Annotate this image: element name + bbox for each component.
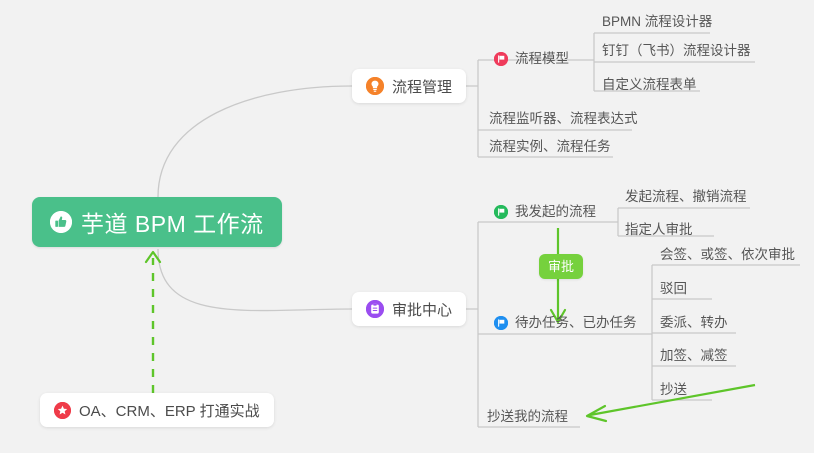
callout-tag-approval: 审批 <box>539 254 583 279</box>
node-todo-done-tasks[interactable]: 待办任务、已办任务 <box>494 316 637 330</box>
mindmap-canvas: 芋道 BPM 工作流 OA、CRM、ERP 打通实战 流程管理 <box>0 0 814 453</box>
node-label-dingtalk-feishu-designer: 钉钉（飞书）流程设计器 <box>602 44 751 58</box>
node-start-cancel-process[interactable]: 发起流程、撤销流程 <box>625 190 747 204</box>
note-node[interactable]: OA、CRM、ERP 打通实战 <box>40 393 274 427</box>
root-node[interactable]: 芋道 BPM 工作流 <box>32 197 282 247</box>
node-label-start-cancel-process: 发起流程、撤销流程 <box>625 190 747 204</box>
node-process-listener-expression[interactable]: 流程监听器、流程表达式 <box>489 112 638 126</box>
node-process-model[interactable]: 流程模型 <box>494 52 569 66</box>
node-cc-to-me-processes[interactable]: 抄送我的流程 <box>487 410 568 424</box>
node-label-cc-to-me-processes: 抄送我的流程 <box>487 410 568 424</box>
node-label-add-remove-sign: 加签、减签 <box>660 349 728 363</box>
node-add-remove-sign[interactable]: 加签、减签 <box>660 349 728 363</box>
node-bpmn-designer[interactable]: BPMN 流程设计器 <box>602 15 712 29</box>
node-label-process-model: 流程模型 <box>515 52 569 66</box>
branch-label-process-management: 流程管理 <box>392 76 452 97</box>
node-reject[interactable]: 驳回 <box>660 282 687 296</box>
node-dingtalk-feishu-designer[interactable]: 钉钉（飞书）流程设计器 <box>602 44 751 58</box>
flag-red-icon <box>494 52 508 66</box>
thumbs-up-icon <box>50 211 72 233</box>
node-carbon-copy[interactable]: 抄送 <box>660 383 687 397</box>
node-label-process-listener-expression: 流程监听器、流程表达式 <box>489 112 638 126</box>
node-label-todo-done-tasks: 待办任务、已办任务 <box>515 316 637 330</box>
node-countersign-orsign-sequential[interactable]: 会签、或签、依次审批 <box>660 248 795 262</box>
flag-green-icon <box>494 205 508 219</box>
callout-tag-label: 审批 <box>548 259 574 274</box>
node-label-delegate-transfer: 委派、转办 <box>660 316 728 330</box>
edge-root-to-approval-center <box>158 249 352 311</box>
node-my-initiated-processes[interactable]: 我发起的流程 <box>494 205 596 219</box>
node-custom-process-form[interactable]: 自定义流程表单 <box>602 78 697 92</box>
node-label-custom-process-form: 自定义流程表单 <box>602 78 697 92</box>
branch-node-approval-center[interactable]: 审批中心 <box>352 292 466 326</box>
branch-node-process-management[interactable]: 流程管理 <box>352 69 466 103</box>
node-label-bpmn-designer: BPMN 流程设计器 <box>602 15 712 29</box>
node-label-carbon-copy: 抄送 <box>660 383 687 397</box>
node-label-process-instance-task: 流程实例、流程任务 <box>489 140 611 154</box>
note-label: OA、CRM、ERP 打通实战 <box>79 400 260 421</box>
node-label-countersign-orsign-sequential: 会签、或签、依次审批 <box>660 248 795 262</box>
node-label-designated-approver: 指定人审批 <box>625 223 693 237</box>
node-delegate-transfer[interactable]: 委派、转办 <box>660 316 728 330</box>
node-label-my-initiated-processes: 我发起的流程 <box>515 205 596 219</box>
clipboard-icon <box>366 300 384 318</box>
edge-root-to-process-management <box>158 86 352 197</box>
star-icon <box>54 402 71 419</box>
flag-blue-icon <box>494 316 508 330</box>
node-label-reject: 驳回 <box>660 282 687 296</box>
branch-label-approval-center: 审批中心 <box>392 299 452 320</box>
arrow-note-to-root <box>146 252 160 393</box>
node-designated-approver[interactable]: 指定人审批 <box>625 223 693 237</box>
root-label: 芋道 BPM 工作流 <box>81 205 264 239</box>
lightbulb-icon <box>366 77 384 95</box>
node-process-instance-task[interactable]: 流程实例、流程任务 <box>489 140 611 154</box>
